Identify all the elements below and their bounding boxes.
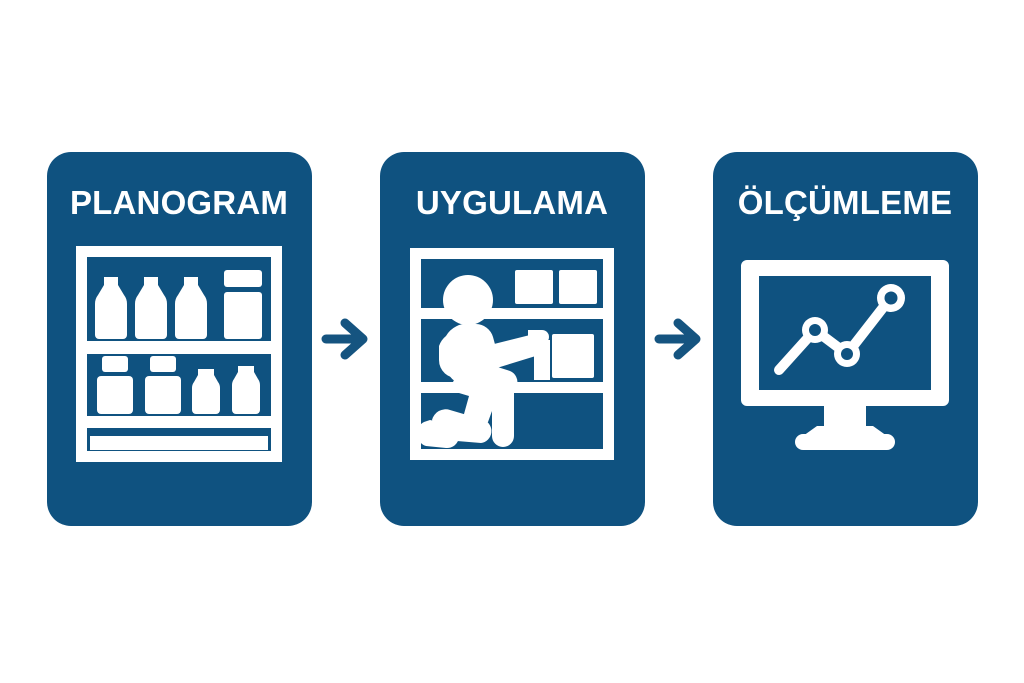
step-title-olcumleme: ÖLÇÜMLEME <box>738 186 952 219</box>
worker-stocking-shelf-icon <box>405 241 620 466</box>
connector-2 <box>645 152 713 526</box>
shelf-with-products-icon <box>72 241 287 466</box>
process-flow: PLANOGRAM <box>0 152 1024 526</box>
monitor-line-chart-icon <box>738 241 953 466</box>
step-card-olcumleme[interactable]: ÖLÇÜMLEME <box>713 152 978 526</box>
step-title-planogram: PLANOGRAM <box>70 186 288 219</box>
connector-1 <box>312 152 380 526</box>
step-card-planogram[interactable]: PLANOGRAM <box>47 152 312 526</box>
diagram-canvas: PLANOGRAM <box>0 0 1024 683</box>
step-title-uygulama: UYGULAMA <box>416 186 608 219</box>
arrow-right-icon <box>320 317 372 361</box>
step-card-uygulama[interactable]: UYGULAMA <box>380 152 645 526</box>
arrow-right-icon <box>653 317 705 361</box>
